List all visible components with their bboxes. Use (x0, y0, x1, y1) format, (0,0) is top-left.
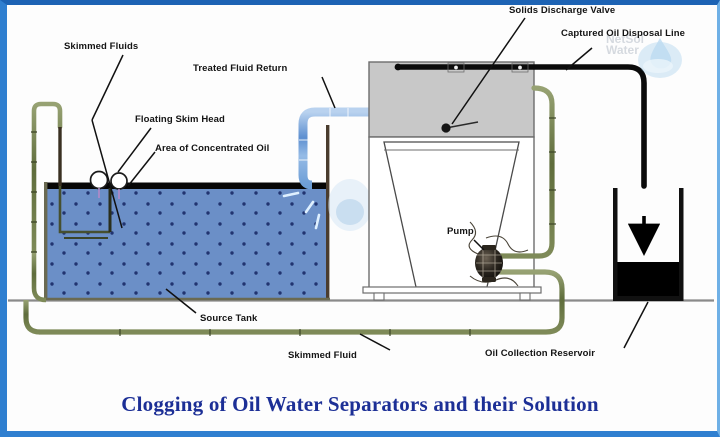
label-solids-discharge-valve: Solids Discharge Valve (509, 5, 615, 16)
label-floating-skim-head: Floating Skim Head (135, 114, 225, 125)
label-oil-collection-reservoir: Oil Collection Reservoir (485, 348, 595, 359)
label-pump: Pump (447, 226, 474, 237)
watermark-line2: Water (606, 45, 644, 56)
label-skimmed-fluid: Skimmed Fluid (288, 350, 357, 361)
diagram-page: NetSol Water Skimmed Fluids Treated Flui… (0, 0, 720, 437)
label-captured-oil-disposal-line: Captured Oil Disposal Line (561, 28, 685, 39)
diagram-title: Clogging of Oil Water Separators and the… (0, 392, 720, 417)
oil-water-separator (363, 62, 541, 300)
label-area-of-concentrated-oil: Area of Concentrated Oil (155, 143, 269, 154)
label-skimmed-fluids: Skimmed Fluids (64, 41, 138, 52)
label-source-tank: Source Tank (200, 313, 257, 324)
label-treated-fluid-return: Treated Fluid Return (193, 63, 287, 74)
oil-collection-reservoir (613, 188, 684, 301)
